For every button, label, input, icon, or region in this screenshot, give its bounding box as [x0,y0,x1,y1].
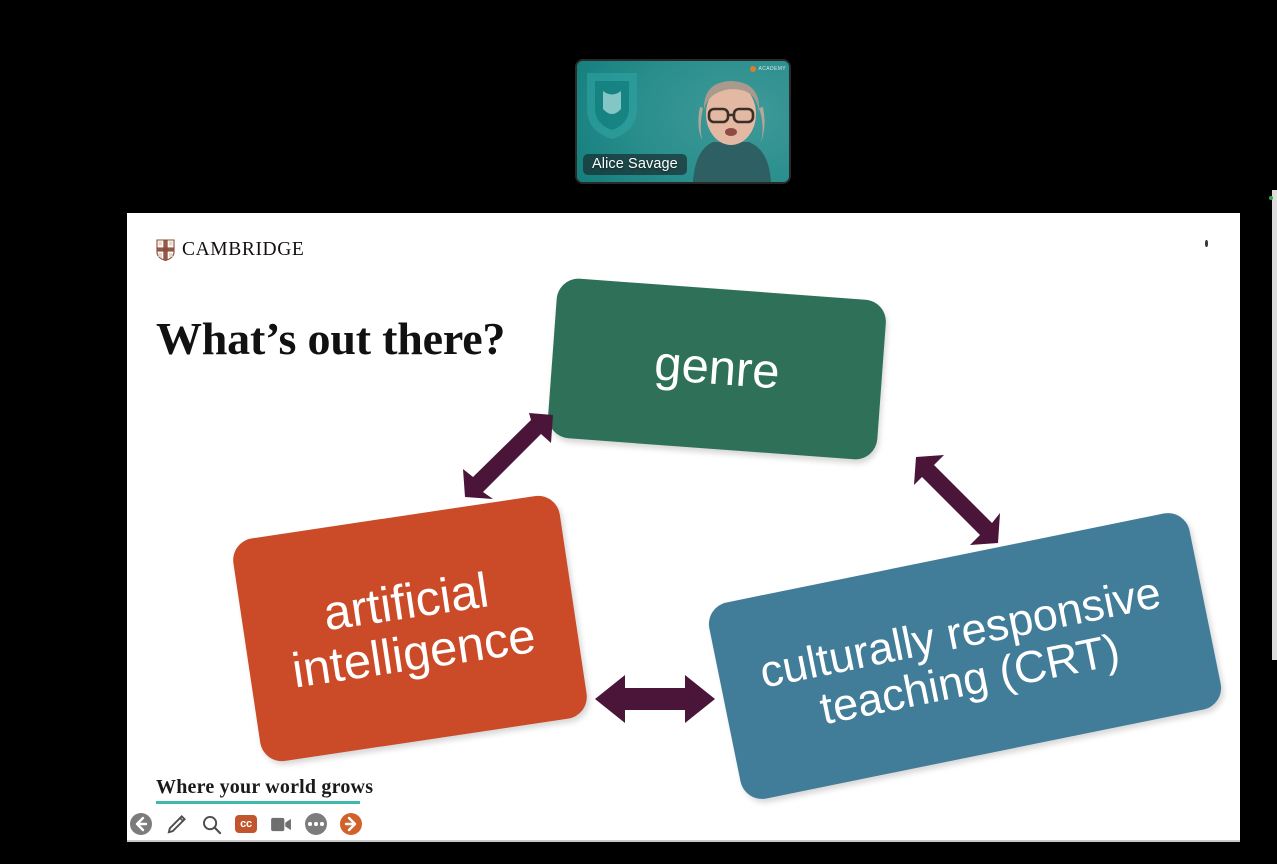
pencil-icon [166,814,187,835]
concept-box-genre-label: genre [653,339,782,400]
watermark-dot-icon [750,66,756,72]
concept-box-ai-label: artificial intelligence [281,559,539,698]
video-camera-icon [270,816,293,833]
ellipsis-circle-icon [305,813,327,835]
video-watermark: ACADEMY [750,64,786,73]
search-button[interactable] [199,812,223,836]
more-button[interactable] [304,812,328,836]
arrow-left-circle-icon [130,813,152,835]
connector-arrow-ai-crt-icon [595,673,715,725]
arrow-right-glyph [340,813,362,835]
annotate-button[interactable] [164,812,188,836]
arrow-left-glyph [130,813,152,835]
presenter-video-tile[interactable]: ACADEMY Alice Savage [577,61,789,182]
presenter-avatar [679,74,783,182]
slide-tagline: Where your world grows [156,776,373,804]
back-button[interactable] [129,812,153,836]
concept-box-genre[interactable]: genre [547,277,888,461]
ellipsis-dots [308,822,323,825]
concept-box-artificial-intelligence[interactable]: artificial intelligence [230,493,590,764]
arrow-right-circle-icon [340,813,362,835]
tagline-text: Where your world grows [156,776,373,799]
player-toolbar: cc [127,808,363,840]
next-button[interactable] [339,812,363,836]
captions-button[interactable]: cc [234,812,258,836]
concept-diagram: genre artificial intelligence culturally… [127,213,1240,840]
concept-box-culturally-responsive-teaching[interactable]: culturally responsive teaching (CRT) [705,509,1225,803]
concept-box-crt-label: culturally responsive teaching (CRT) [756,569,1175,744]
tagline-rule [156,801,360,804]
presenter-name-label: Alice Savage [583,154,687,175]
video-button[interactable] [269,812,293,836]
connector-arrow-genre-crt-icon [912,451,1004,551]
presentation-frame: CAMBRIDGE What’s out there? genre artifi… [75,186,1277,864]
watermark-label: ACADEMY [758,66,786,72]
cc-icon: cc [235,815,257,833]
window-right-edge [1272,190,1277,660]
status-indicator-dot [1269,196,1273,200]
slide-canvas[interactable]: CAMBRIDGE What’s out there? genre artifi… [127,213,1240,842]
shield-watermark-icon [583,69,641,141]
connector-arrow-genre-ai-icon [457,409,557,501]
search-icon [201,814,222,835]
